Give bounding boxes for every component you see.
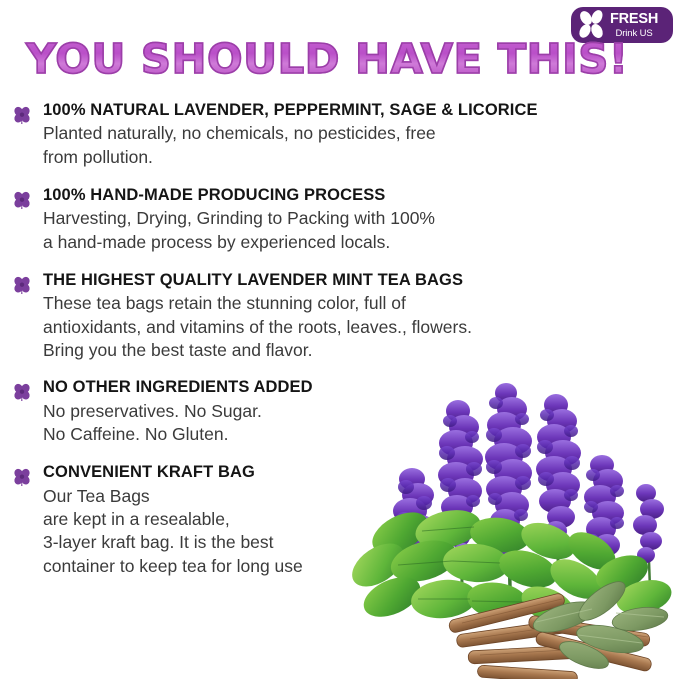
feature-body: Harvesting, Drying, Grinding to Packing … (43, 207, 662, 254)
page-title: YOU SHOULD HAVE THIS! (26, 39, 628, 80)
clover-flower-icon (12, 467, 32, 487)
feature-body: These tea bags retain the stunning color… (43, 292, 662, 362)
feature-body-line: Harvesting, Drying, Grinding to Packing … (43, 207, 662, 230)
feature-heading: 100% HAND-MADE PRODUCING PROCESS (43, 186, 662, 205)
feature-heading: 100% NATURAL LAVENDER, PEPPERMINT, SAGE … (43, 101, 662, 120)
feature-body-line: Planted naturally, no chemicals, no pest… (43, 122, 662, 145)
infographic-page: FRESH Drink US YOU SHOULD HAVE THIS! (0, 0, 679, 679)
clover-flower-icon (12, 105, 32, 125)
list-item: 100% HAND-MADE PRODUCING PROCESS Harvest… (12, 186, 662, 254)
logo-brand-text: FRESH (610, 12, 658, 27)
clover-flower-icon (12, 382, 32, 402)
herbs-product-photo (352, 383, 679, 679)
feature-body-line: from pollution. (43, 146, 662, 169)
list-item: THE HIGHEST QUALITY LAVENDER MINT TEA BA… (12, 271, 662, 362)
list-item: 100% NATURAL LAVENDER, PEPPERMINT, SAGE … (12, 101, 662, 169)
feature-body: Planted naturally, no chemicals, no pest… (43, 122, 662, 169)
feature-heading: THE HIGHEST QUALITY LAVENDER MINT TEA BA… (43, 271, 662, 290)
clover-flower-icon (12, 190, 32, 210)
feature-body-line: Bring you the best taste and flavor. (43, 339, 662, 362)
feature-body-line: antioxidants, and vitamins of the roots,… (43, 316, 662, 339)
feature-body-line: These tea bags retain the stunning color… (43, 292, 662, 315)
clover-flower-icon (12, 275, 32, 295)
feature-body-line: a hand-made process by experienced local… (43, 231, 662, 254)
